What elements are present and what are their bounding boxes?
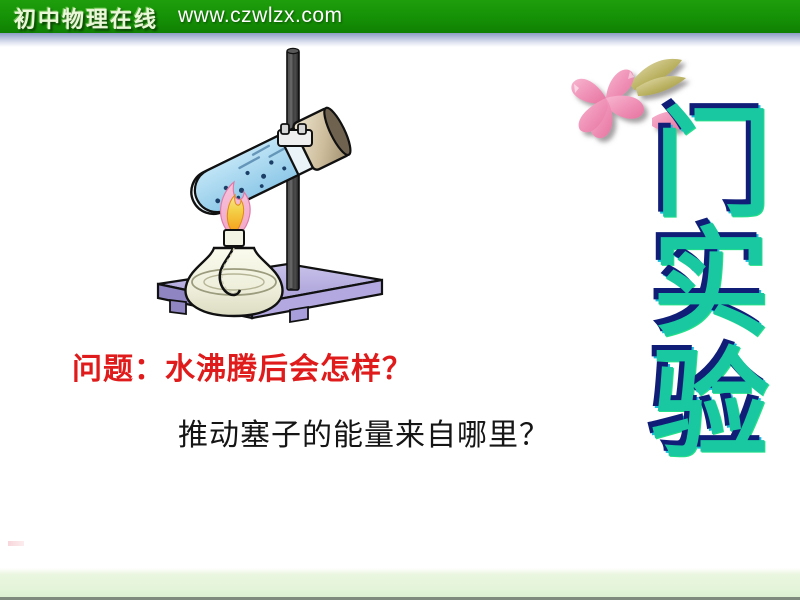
- site-logo-text: 初中物理在线: [14, 2, 158, 34]
- header-shadow-gradient: [0, 33, 800, 47]
- deco-char-3: 验: [620, 345, 800, 465]
- deco-char-2: 实: [622, 224, 800, 344]
- slide-canvas: 初中物理在线 www.czwlzx.com: [0, 0, 800, 600]
- footer-banner: [0, 568, 800, 600]
- experiment-illustration: [140, 42, 400, 342]
- question-line-1: 问题：水沸腾后会怎样？: [72, 344, 413, 388]
- test-tube: [182, 105, 355, 225]
- question-line-2: 推动塞子的能量来自哪里？: [178, 410, 550, 454]
- alcohol-lamp: [185, 230, 282, 316]
- decorative-column: 门 实 验: [560, 44, 800, 544]
- deco-char-1: 门: [626, 104, 800, 224]
- site-url-text: www.czwlzx.com: [178, 4, 343, 28]
- decorative-title-vertical: 门 实 验: [620, 104, 800, 465]
- footer-pink-mark: [8, 541, 24, 546]
